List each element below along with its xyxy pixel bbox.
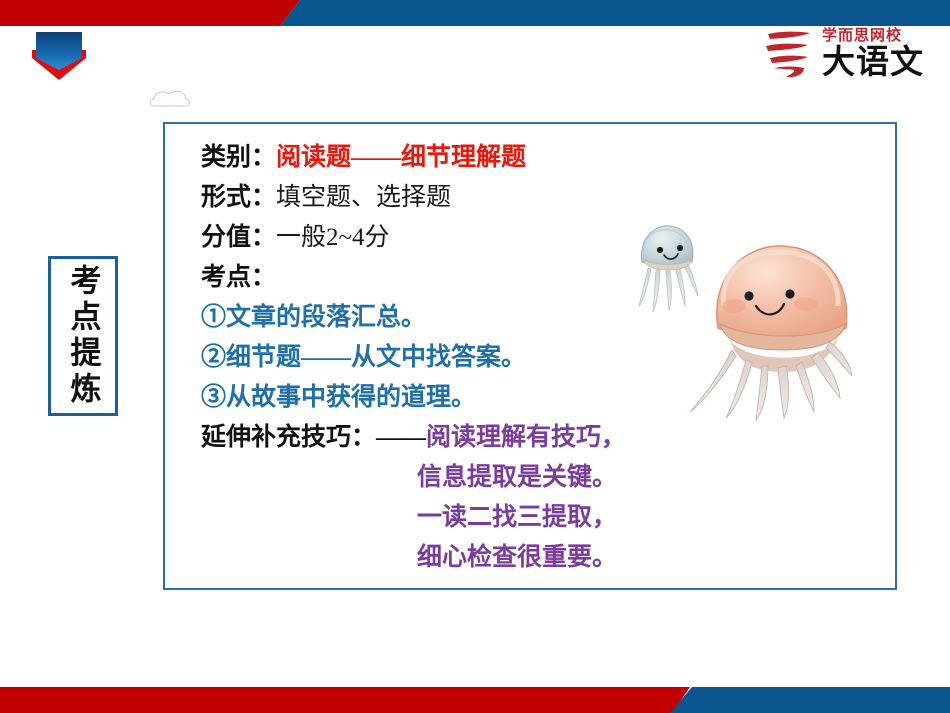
row-format-label: 形式： <box>201 184 276 211</box>
row-category-label: 类别： <box>201 144 276 171</box>
cloud-icon <box>148 88 192 110</box>
bottom-bar-red-segment <box>0 687 700 713</box>
row-score: 分值：一般2~4分 <box>201 218 861 258</box>
brand-title: 大语文 <box>822 45 924 78</box>
poem-line-1: 阅读理解有技巧， <box>426 424 626 451</box>
extension-dash: —— <box>376 424 426 451</box>
top-bar-red-segment <box>0 0 300 26</box>
swoosh-icon <box>764 26 816 80</box>
chevron-badge-icon <box>30 30 88 82</box>
bottom-decor-bar <box>0 687 950 713</box>
poem-line-4: 细心检查很重要。 <box>201 538 861 578</box>
slide-root: 学而思网校 大语文 考点提炼 类别：阅读题——细节理解题 形式：填空题、选择题 … <box>0 0 950 713</box>
row-score-label: 分值： <box>201 224 276 251</box>
row-category: 类别：阅读题——细节理解题 <box>201 138 861 178</box>
key-point-1: ①文章的段落汇总。 <box>201 298 861 338</box>
row-score-value: 一般2~4分 <box>276 224 390 251</box>
row-format-value: 填空题、选择题 <box>276 184 451 211</box>
row-keypoints: 考点： <box>201 258 861 298</box>
side-label-text: 考点提炼 <box>67 263 100 409</box>
row-keypoints-label: 考点： <box>201 264 276 291</box>
brand-logo: 学而思网校 大语文 <box>764 22 924 84</box>
poem-line-3: 一读二找三提取， <box>201 498 861 538</box>
content-lines: 类别：阅读题——细节理解题 形式：填空题、选择题 分值：一般2~4分 考点： ①… <box>201 138 861 578</box>
key-point-2: ②细节题——从文中找答案。 <box>201 338 861 378</box>
poem-line-2: 信息提取是关键。 <box>201 458 861 498</box>
row-format: 形式：填空题、选择题 <box>201 178 861 218</box>
brand-text-group: 学而思网校 大语文 <box>822 28 924 78</box>
row-category-value: 阅读题——细节理解题 <box>276 144 526 171</box>
brand-subtitle: 学而思网校 <box>822 28 902 43</box>
bottom-bar-blue-segment <box>665 687 950 713</box>
extension-label: 延伸补充技巧： <box>201 424 376 451</box>
side-label-kaodian-tilian: 考点提炼 <box>48 256 118 416</box>
key-point-3: ③从故事中获得的道理。 <box>201 378 861 418</box>
extension-row: 延伸补充技巧：——阅读理解有技巧， <box>201 418 861 458</box>
content-box: 类别：阅读题——细节理解题 形式：填空题、选择题 分值：一般2~4分 考点： ①… <box>163 122 897 590</box>
